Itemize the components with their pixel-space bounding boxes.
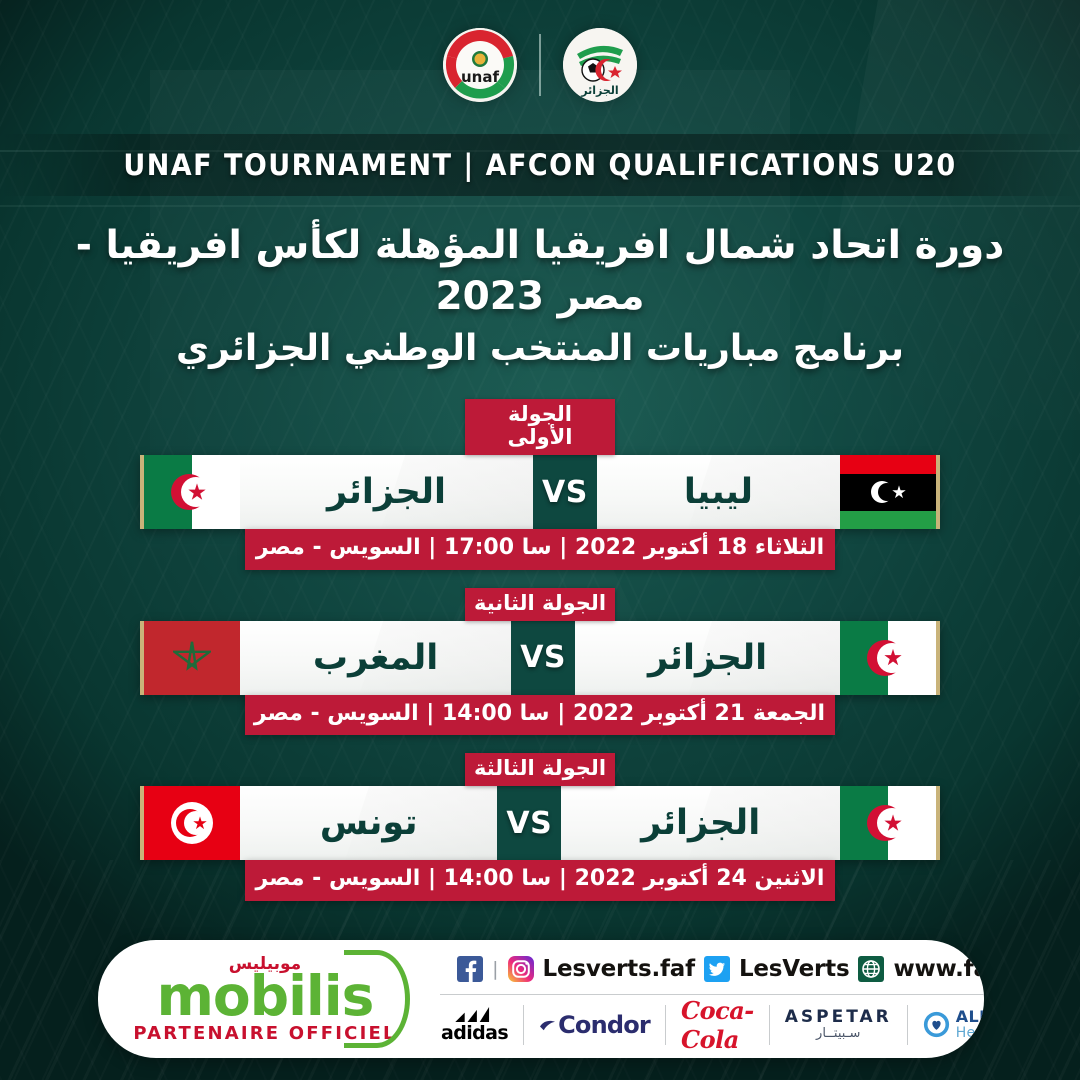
sponsor-aspetar: ASPETAR سـبيتــار — [769, 1005, 907, 1045]
away-flag-cell — [840, 455, 936, 529]
round-badge: الجولة الأولى — [465, 399, 615, 455]
sponsor-aspetar-label: ASPETAR — [785, 1009, 892, 1027]
header-logos: unaf الجزائر — [0, 0, 1080, 112]
fixture-row: المغرب VS الجزائر — [140, 621, 940, 695]
algeria-flag-icon — [840, 786, 936, 860]
twitter-icon[interactable] — [704, 956, 730, 982]
svg-text:unaf: unaf — [461, 68, 499, 86]
instagram-icon[interactable] — [508, 956, 534, 982]
away-team-cell: ليبيا — [597, 455, 840, 529]
away-team-name: الجزائر — [648, 638, 767, 678]
round-badge: الجولة الثالثة — [465, 753, 615, 786]
home-team-name: تونس — [320, 803, 418, 843]
condor-bird-icon — [539, 1018, 556, 1033]
home-flag-cell — [144, 621, 240, 695]
sponsor-alrayane-label: ALRAYANE — [956, 1009, 984, 1026]
sponsor-condor-label: Condor — [558, 1011, 650, 1039]
tunisia-flag-icon — [144, 786, 240, 860]
away-team-cell: الجزائر — [561, 786, 840, 860]
instagram-handle[interactable]: Lesverts.faf — [543, 956, 695, 982]
away-team-name: الجزائر — [641, 803, 760, 843]
sponsor-row: adidas Condor Coca-Cola — [426, 1002, 984, 1048]
mobilis-tagline: PARTENAIRE OFFICIEL — [133, 1023, 396, 1044]
fixture-row: الجزائر VS ليبيا — [140, 455, 940, 529]
footer-panel: موبيليس mobilis PARTENAIRE OFFICIEL | — [98, 940, 984, 1058]
facebook-icon[interactable] — [457, 956, 483, 982]
fixture-row: تونس VS الجزائر — [140, 786, 940, 860]
footer-right: | — [416, 940, 984, 1058]
background-line-second — [0, 205, 1080, 207]
svg-text:الجزائر: الجزائر — [580, 84, 618, 97]
home-team-name: الجزائر — [327, 472, 446, 512]
algeria-flag-icon — [840, 621, 936, 695]
sponsor-aspetar-label-arabic: سـبيتــار — [816, 1027, 860, 1041]
english-title-strip: UNAF TOURNAMENT | AFCON QUALIFICATIONS U… — [0, 134, 1080, 196]
match-detail-bar: الجمعة 21 أكتوبر 2022 | سا 14:00 | السوي… — [245, 695, 835, 735]
away-flag-cell — [840, 621, 936, 695]
match-card: الجولة الثانية المغرب VS الجزائر — [0, 588, 1080, 735]
home-flag-cell — [144, 455, 240, 529]
sponsor-alrayane: ALRAYANE Healthcare — [907, 1005, 984, 1045]
away-flag-cell — [840, 786, 936, 860]
footer-divider — [440, 994, 984, 995]
social-separator: | — [492, 958, 498, 980]
mobilis-logo: موبيليس mobilis PARTENAIRE OFFICIEL — [98, 940, 416, 1058]
faf-logo: الجزائر — [563, 28, 637, 102]
away-team-name: ليبيا — [684, 472, 753, 512]
globe-icon[interactable] — [858, 956, 884, 982]
match-card: الجولة الأولى الجزائر VS ليبيا — [0, 399, 1080, 570]
alrayane-heart-icon — [923, 1011, 950, 1038]
sponsor-condor: Condor — [523, 1005, 665, 1045]
website-url[interactable]: www.faf.dz — [893, 956, 984, 982]
poster-canvas: unaf الجزائر UNAF TOURNAMENT | AFCON QUA… — [0, 0, 1080, 1080]
twitter-handle[interactable]: LesVerts — [739, 956, 850, 982]
vs-divider: VS — [511, 621, 575, 695]
arabic-title-line1: دورة اتحاد شمال افريقيا المؤهلة لكأس افر… — [40, 220, 1040, 323]
english-title: UNAF TOURNAMENT | AFCON QUALIFICATIONS U… — [123, 148, 956, 182]
arabic-title-line2: برنامج مباريات المنتخب الوطني الجزائري — [40, 325, 1040, 373]
home-team-name: المغرب — [313, 638, 438, 678]
social-row: | — [426, 950, 984, 988]
sponsor-adidas: adidas — [426, 1005, 523, 1045]
home-team-cell: المغرب — [240, 621, 511, 695]
algeria-flag-icon — [144, 455, 240, 529]
arabic-headline: دورة اتحاد شمال افريقيا المؤهلة لكأس افر… — [0, 220, 1080, 373]
vs-divider: VS — [497, 786, 561, 860]
unaf-logo: unaf — [443, 28, 517, 102]
match-detail-bar: الثلاثاء 18 أكتوبر 2022 | سا 17:00 | الس… — [245, 529, 835, 569]
home-team-cell: الجزائر — [240, 455, 533, 529]
home-team-cell: تونس — [240, 786, 497, 860]
libya-flag-icon — [840, 455, 936, 529]
away-team-cell: الجزائر — [575, 621, 840, 695]
morocco-flag-icon — [144, 621, 240, 695]
sponsor-alrayane-sublabel: Healthcare — [956, 1026, 984, 1041]
match-card: الجولة الثالثة تونس VS الجزائر — [0, 753, 1080, 900]
round-badge: الجولة الثانية — [465, 588, 615, 621]
sponsor-coca-cola: Coca-Cola — [665, 1005, 769, 1045]
vs-divider: VS — [533, 455, 597, 529]
sponsor-adidas-label: adidas — [441, 1022, 508, 1044]
sponsor-coca-cola-label: Coca-Cola — [681, 996, 754, 1054]
logo-divider — [539, 34, 541, 96]
mobilis-wordmark: mobilis — [157, 970, 374, 1022]
match-detail-bar: الاثنين 24 أكتوبر 2022 | سا 14:00 | السو… — [245, 860, 835, 900]
home-flag-cell — [144, 786, 240, 860]
adidas-stripes-icon — [453, 1007, 497, 1022]
match-list: الجولة الأولى الجزائر VS ليبيا — [0, 399, 1080, 901]
